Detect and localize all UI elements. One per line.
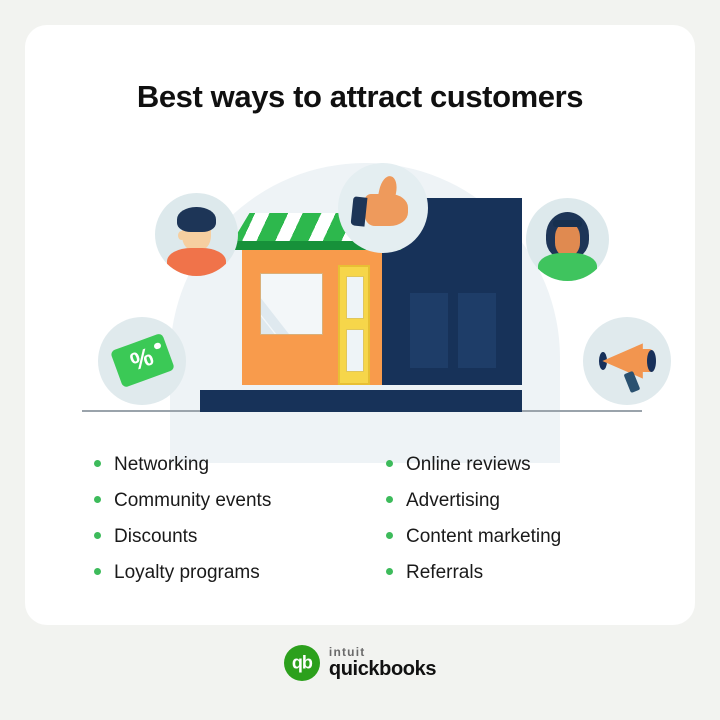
- door-panel-top: [346, 276, 364, 319]
- list-item: Community events: [94, 491, 334, 512]
- bullet-dot: [386, 496, 393, 503]
- list-item: Networking: [94, 455, 334, 476]
- list-item: Online reviews: [386, 455, 626, 476]
- list-column-left: Networking Community events Discounts Lo…: [94, 455, 334, 599]
- megaphone-badge: [583, 317, 671, 405]
- megaphone-icon: [602, 343, 642, 378]
- thumbs-up-icon: [365, 194, 408, 226]
- customer-avatar-right: [526, 198, 609, 281]
- thumbs-up-badge: [338, 163, 428, 253]
- brand-quickbooks: quickbooks: [329, 659, 436, 680]
- list-item: Loyalty programs: [94, 563, 334, 584]
- bullet-dot: [94, 568, 101, 575]
- customer-avatar-left: [155, 193, 238, 276]
- person-body-icon: [167, 248, 227, 276]
- person-body-icon: [538, 253, 598, 281]
- person-headband-icon: [553, 220, 583, 227]
- bullet-dot: [94, 532, 101, 539]
- bullet-dot: [94, 460, 101, 467]
- bullet-dot: [386, 568, 393, 575]
- qb-monogram: qb: [292, 654, 312, 672]
- building-window-left: [410, 293, 448, 368]
- shop-door: [338, 265, 370, 385]
- list-column-right: Online reviews Advertising Content marke…: [386, 455, 626, 599]
- shop-window: [260, 273, 323, 335]
- list-item: Content marketing: [386, 527, 626, 548]
- percent-symbol: %: [127, 345, 156, 376]
- shop-facade: [242, 245, 382, 385]
- building-window-right: [458, 293, 496, 368]
- content-card: Best ways to attract customers: [25, 25, 695, 625]
- tag-hole: [153, 342, 161, 350]
- quickbooks-logo: qb intuit quickbooks: [0, 645, 720, 681]
- brand-wordmark: intuit quickbooks: [329, 646, 436, 680]
- building-base: [200, 390, 522, 412]
- person-hair-icon: [177, 207, 215, 232]
- brand-intuit: intuit: [329, 646, 436, 659]
- quickbooks-logo-icon: qb: [284, 645, 320, 681]
- attract-customers-lists: Networking Community events Discounts Lo…: [25, 455, 695, 599]
- percent-tag-icon: %: [110, 333, 174, 388]
- door-panel-bottom: [346, 329, 364, 372]
- list-item: Referrals: [386, 563, 626, 584]
- bullet-dot: [386, 460, 393, 467]
- bullet-dot: [386, 532, 393, 539]
- thumbs-up-cuff-icon: [351, 197, 367, 227]
- bullet-dot: [94, 496, 101, 503]
- storefront-illustration: %: [60, 115, 660, 440]
- person-head-icon: [555, 223, 580, 256]
- megaphone-ring: [647, 350, 656, 372]
- discount-tag-badge: %: [98, 317, 186, 405]
- list-item: Advertising: [386, 491, 626, 512]
- page-title: Best ways to attract customers: [25, 79, 695, 115]
- list-item: Discounts: [94, 527, 334, 548]
